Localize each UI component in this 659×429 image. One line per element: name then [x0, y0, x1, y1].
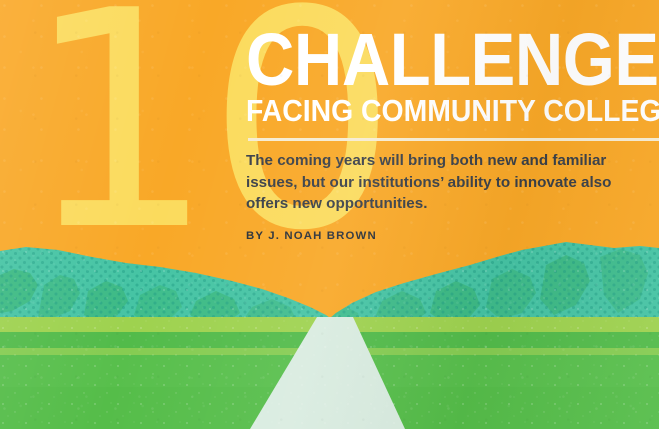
magazine-cover-poster: 10 CHALLENGES FACING COMMUNITY COLLEGES … — [0, 0, 659, 429]
horizontal-divider — [248, 138, 659, 141]
byline: BY J. NOAH BROWN — [246, 230, 377, 242]
headline-block: CHALLENGES FACING COMMUNITY COLLEGES — [246, 28, 650, 126]
page-subtitle: FACING COMMUNITY COLLEGES — [246, 96, 622, 127]
page-title: CHALLENGES — [246, 28, 612, 92]
deck-paragraph: The coming years will bring both new and… — [246, 150, 640, 215]
